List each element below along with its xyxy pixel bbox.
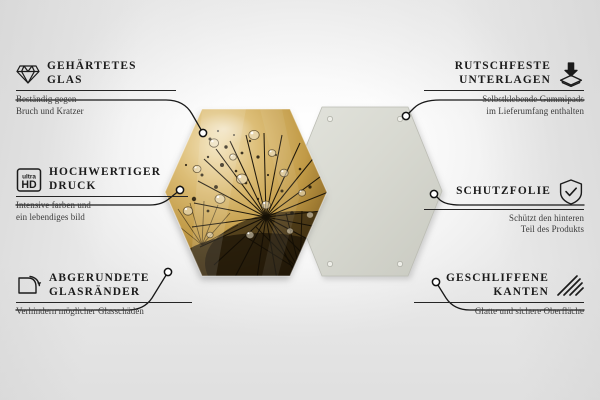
front-glass-panel <box>150 95 450 290</box>
diamond-icon <box>16 63 40 85</box>
ultra-hd-icon: ultra HD <box>16 167 42 193</box>
feature-ground-edges: GESCHLIFFENE KANTEN Glatte und sichere O… <box>414 272 584 318</box>
feature-protective-film: SCHUTZFOLIE Schützt den hinteren Teil de… <box>424 178 584 236</box>
feature-title-2: DRUCK <box>49 180 161 194</box>
feature-title-2: KANTEN <box>446 286 549 300</box>
product-infographic: GEHÄRTETES GLAS Beständig gegen Bruch un… <box>0 0 600 400</box>
feature-title: HOCHWERTIGER <box>49 166 161 180</box>
divider <box>16 302 192 303</box>
feature-title-2: UNTERLAGEN <box>455 74 551 88</box>
feature-title: SCHUTZFOLIE <box>456 185 551 199</box>
rounded-corner-icon <box>16 274 42 298</box>
feature-high-quality-print: ultra HD HOCHWERTIGER DRUCK Intensive fa… <box>16 166 188 223</box>
feature-subtitle: Beständig gegen <box>16 94 176 105</box>
feature-title: GESCHLIFFENE <box>446 272 549 286</box>
divider <box>16 90 176 91</box>
feature-rounded-glass-edges: ABGERUNDETE GLASRÄNDER Verhindern möglic… <box>16 272 192 318</box>
feature-title: RUTSCHFESTE <box>455 60 551 74</box>
feature-subtitle-2: Teil des Produkts <box>424 224 584 235</box>
feature-subtitle: Schützt den hinteren <box>424 213 584 224</box>
feature-title: ABGERUNDETE <box>49 272 150 286</box>
feature-subtitle-2: Bruch und Kratzer <box>16 106 176 117</box>
feature-non-slip-pads: RUTSCHFESTE UNTERLAGEN Selbstklebende Gu… <box>424 60 584 117</box>
shield-check-icon <box>558 178 584 206</box>
feature-title-2: GLAS <box>47 74 137 88</box>
feature-subtitle: Glatte und sichere Oberfläche <box>414 306 584 317</box>
divider <box>424 90 584 91</box>
feature-subtitle-2: ein lebendiges bild <box>16 212 188 223</box>
product-image <box>150 95 450 290</box>
hd-label: HD <box>21 179 37 191</box>
press-pad-icon <box>558 61 584 87</box>
feature-title: GEHÄRTETES <box>47 60 137 74</box>
feature-subtitle-2: im Lieferumfang enthalten <box>424 106 584 117</box>
divider <box>414 302 584 303</box>
feature-tempered-glass: GEHÄRTETES GLAS Beständig gegen Bruch un… <box>16 60 176 117</box>
divider <box>424 209 584 210</box>
feature-subtitle: Verhindern möglicher Glasschäden <box>16 306 192 317</box>
feature-subtitle: Selbstklebende Gummipads <box>424 94 584 105</box>
feature-subtitle: Intensive farben und <box>16 200 188 211</box>
diagonal-stripes-icon <box>556 274 584 298</box>
divider <box>16 196 188 197</box>
feature-title-2: GLASRÄNDER <box>49 286 150 300</box>
